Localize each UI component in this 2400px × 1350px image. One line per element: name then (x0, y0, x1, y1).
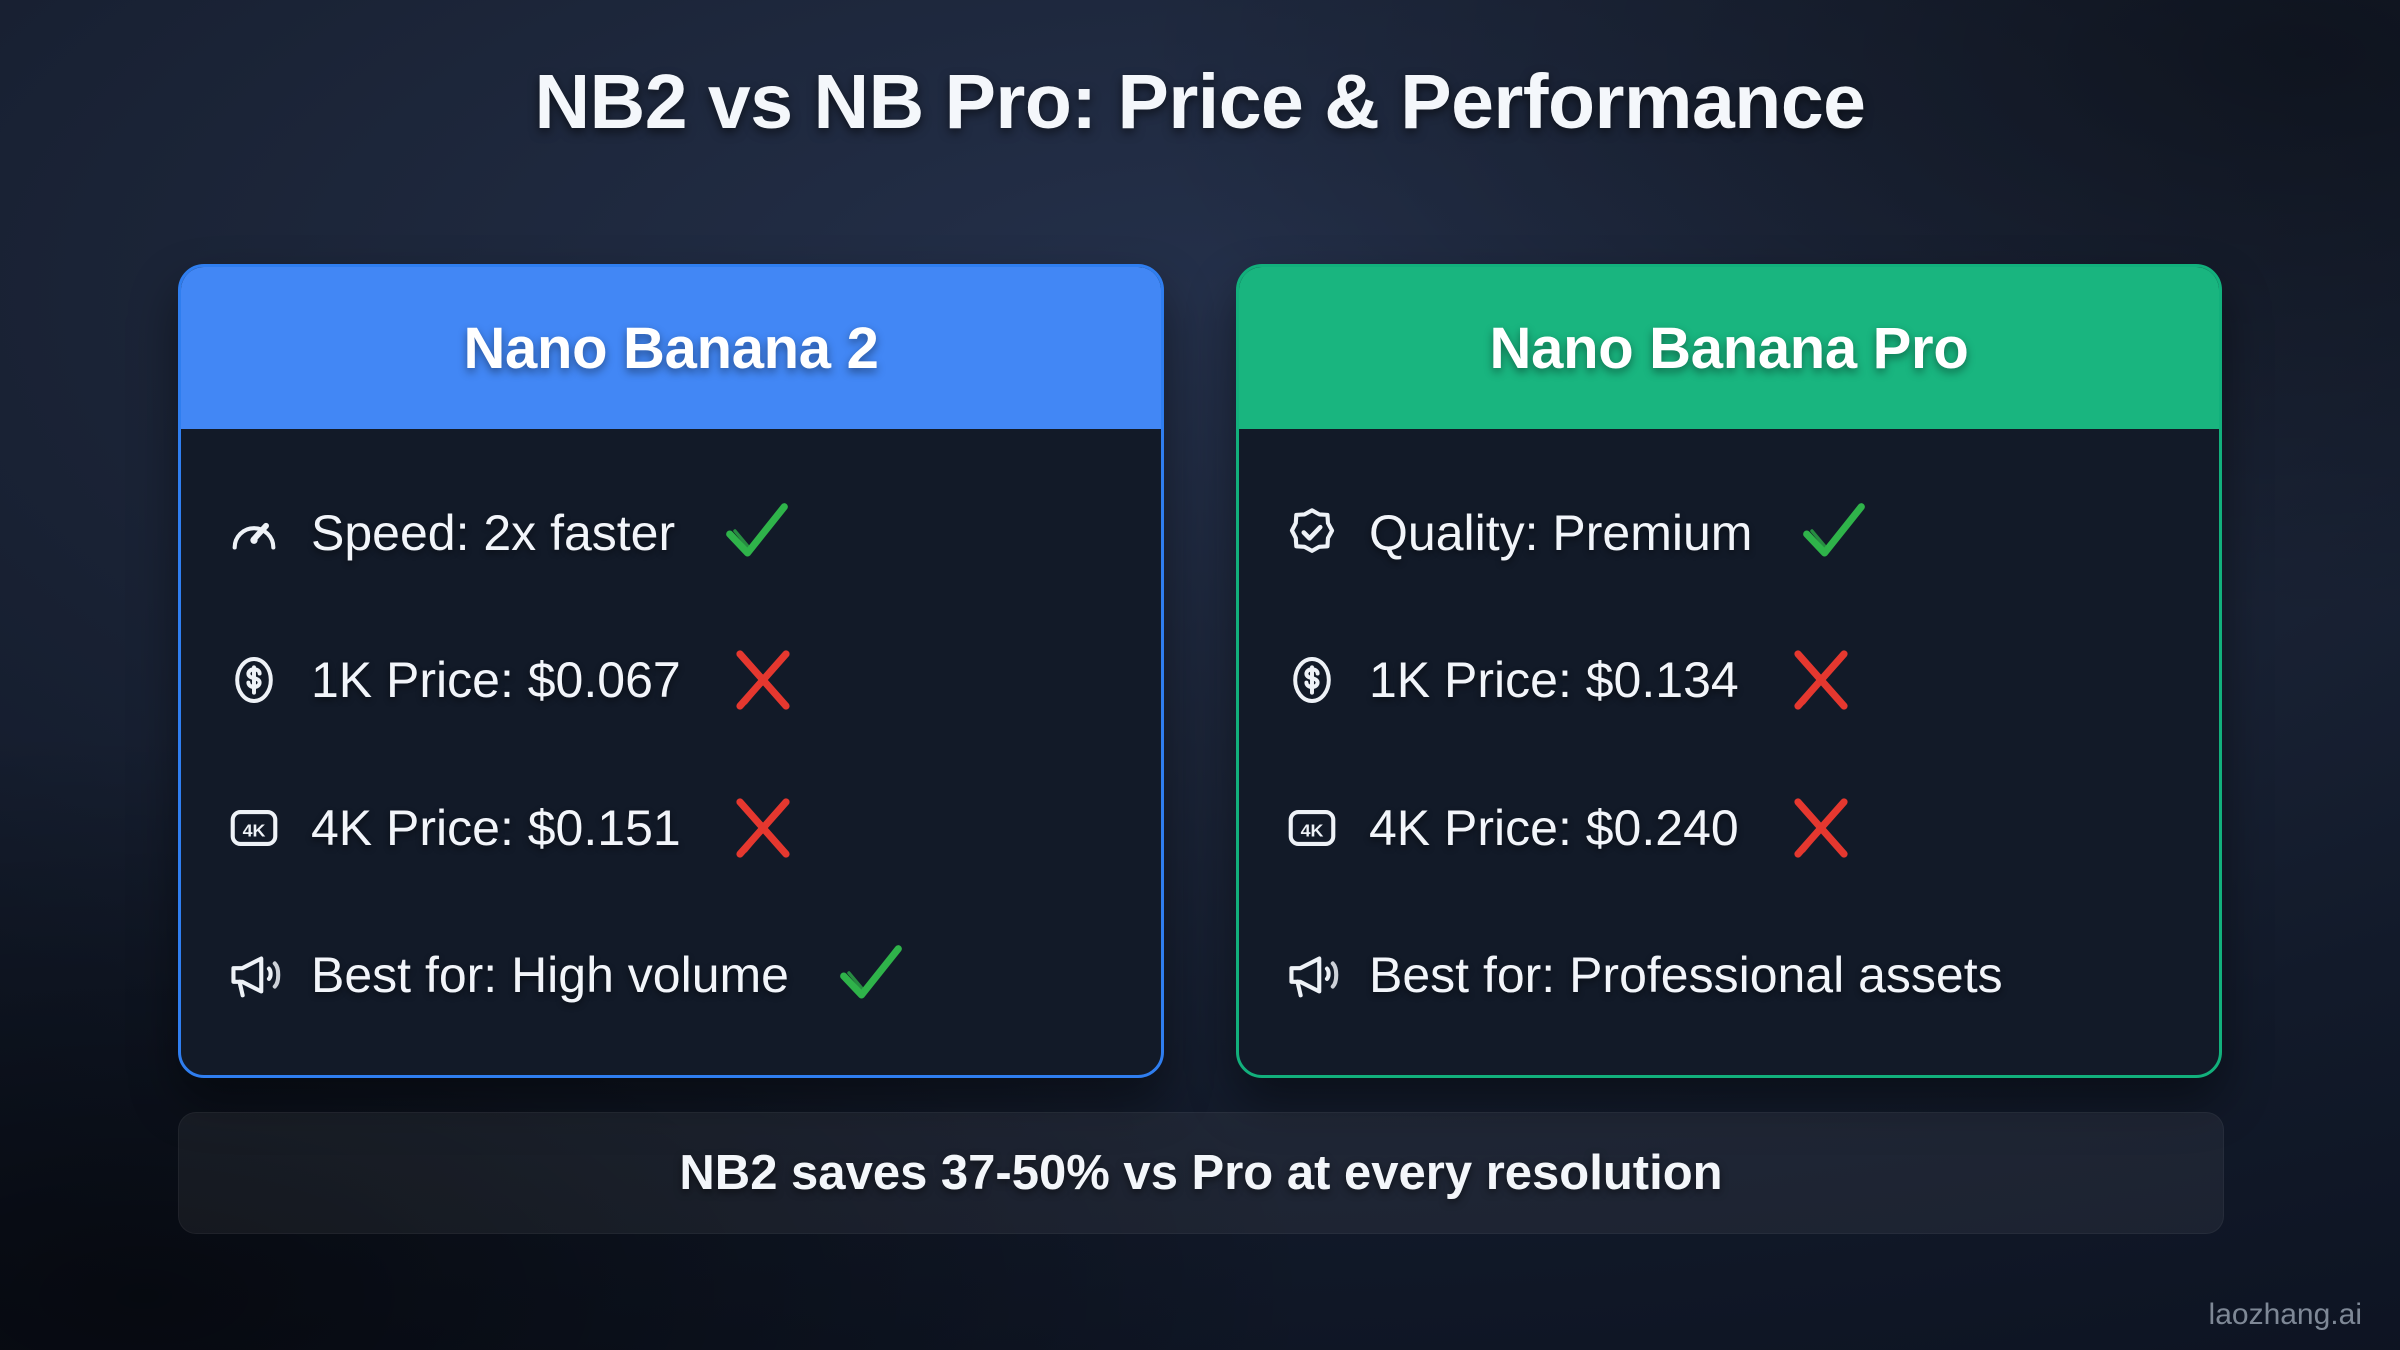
feature-label: Quality: Premium (1369, 504, 1752, 562)
megaphone-icon (223, 944, 285, 1006)
card-title-nano-banana-2: Nano Banana 2 (181, 267, 1161, 429)
cross-icon (717, 634, 809, 726)
page-title: NB2 vs NB Pro: Price & Performance (0, 58, 2400, 147)
feature-label: Best for: Professional assets (1369, 946, 2003, 1004)
feature-row: Speed: 2x faster (223, 463, 1121, 603)
4k-icon: 4K (1281, 797, 1343, 859)
megaphone-icon (1281, 944, 1343, 1006)
cross-icon (717, 782, 809, 874)
feature-row: 1K Price: $0.134 (1281, 610, 2179, 750)
feature-row: 4K 4K Price: $0.240 (1281, 758, 2179, 898)
card-body-nano-banana-pro: Quality: Premium (1239, 429, 2219, 1075)
badge-check-icon (1281, 502, 1343, 564)
check-icon (711, 487, 803, 579)
feature-row: Best for: Professional assets (1281, 905, 2179, 1045)
speedometer-icon (223, 502, 285, 564)
cross-icon (1775, 634, 1867, 726)
svg-text:4K: 4K (1301, 820, 1324, 840)
card-body-nano-banana-2: Speed: 2x faster (181, 429, 1161, 1075)
comparison-cards: Nano Banana 2 Speed: 2x faster (178, 264, 2222, 1078)
comparison-infographic: NB2 vs NB Pro: Price & Performance Nano … (0, 0, 2400, 1350)
cross-icon (1775, 782, 1867, 874)
savings-banner: NB2 saves 37-50% vs Pro at every resolut… (178, 1112, 2224, 1234)
feature-row: 4K 4K Price: $0.151 (223, 758, 1121, 898)
check-icon (1788, 487, 1880, 579)
watermark: laozhang.ai (2209, 1298, 2362, 1332)
dollar-circle-icon (223, 649, 285, 711)
feature-row: Quality: Premium (1281, 463, 2179, 603)
card-nano-banana-2[interactable]: Nano Banana 2 Speed: 2x faster (178, 264, 1164, 1078)
feature-label: Best for: High volume (311, 946, 789, 1004)
card-nano-banana-pro[interactable]: Nano Banana Pro Quality: Premium (1236, 264, 2222, 1078)
feature-label: 4K Price: $0.240 (1369, 799, 1739, 857)
svg-text:4K: 4K (243, 820, 266, 840)
feature-label: 1K Price: $0.067 (311, 651, 681, 709)
savings-banner-text: NB2 saves 37-50% vs Pro at every resolut… (679, 1145, 1722, 1201)
card-title-nano-banana-pro: Nano Banana Pro (1239, 267, 2219, 429)
feature-row: 1K Price: $0.067 (223, 610, 1121, 750)
feature-label: Speed: 2x faster (311, 504, 675, 562)
feature-label: 4K Price: $0.151 (311, 799, 681, 857)
feature-row: Best for: High volume (223, 905, 1121, 1045)
dollar-circle-icon (1281, 649, 1343, 711)
4k-icon: 4K (223, 797, 285, 859)
check-icon (825, 929, 917, 1021)
feature-label: 1K Price: $0.134 (1369, 651, 1739, 709)
